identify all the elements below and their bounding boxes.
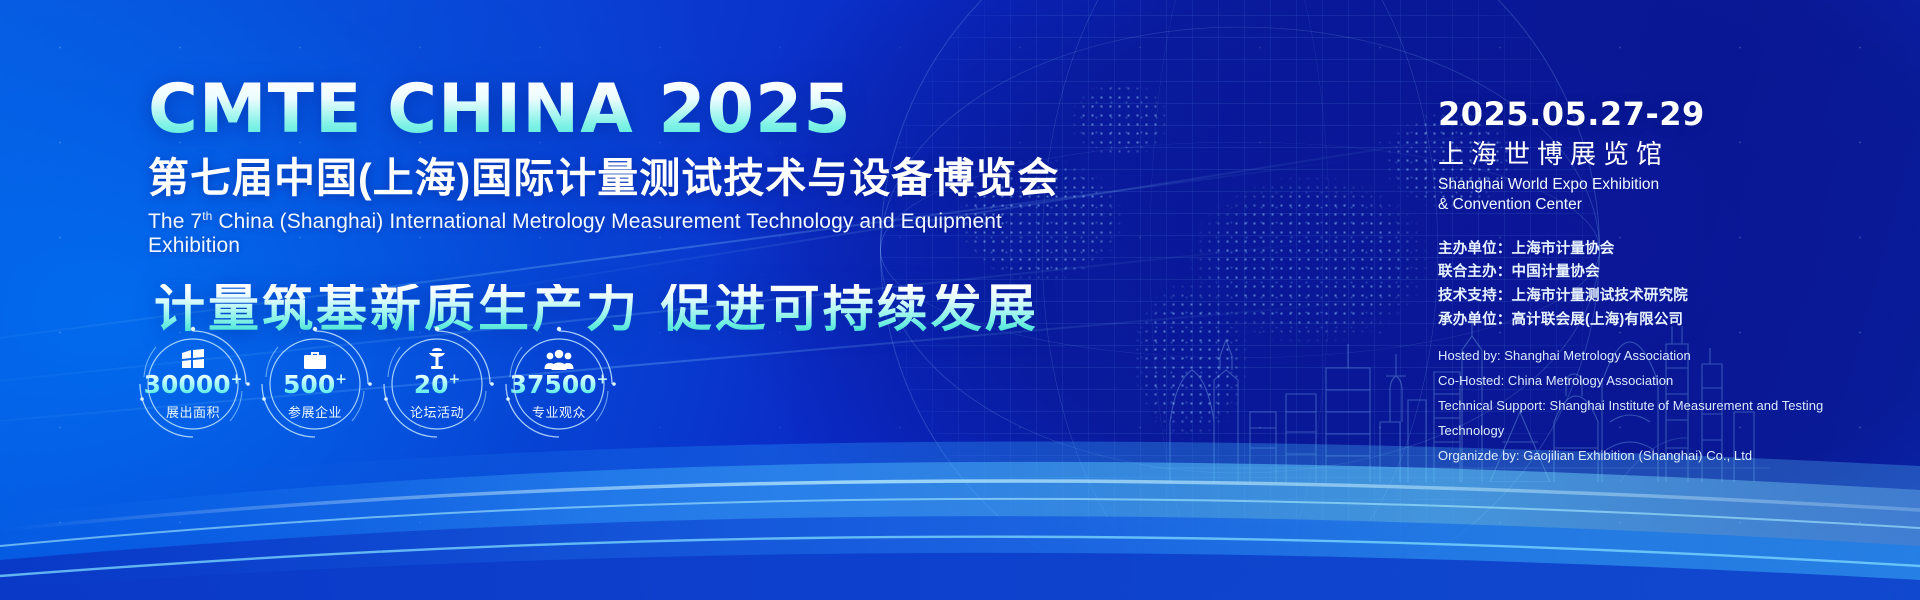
stat-label: 论坛活动 xyxy=(410,402,464,421)
stat-badge-exhibition-area: 30000+ 展出面积 xyxy=(145,336,241,432)
stat-badge-visitors: 37500+ 专业观众 xyxy=(511,336,607,432)
globe-ring-meridian-c xyxy=(1150,0,1330,600)
headline-block: CMTE CHINA 2025 第七届中国(上海)国际计量测试技术与设备博览会 … xyxy=(148,76,1098,335)
stat-badge-exhibitors: 500+ 参展企业 xyxy=(267,336,363,432)
venue-en-line-2: & Convention Center xyxy=(1438,195,1878,215)
stat-label: 展出面积 xyxy=(166,402,220,421)
event-title: CMTE CHINA 2025 xyxy=(148,76,1098,144)
visitors-icon xyxy=(544,347,574,371)
organizer-en-support: Technical Support: Shanghai Institute of… xyxy=(1438,394,1878,444)
stat-value: 37500+ xyxy=(510,372,609,397)
stat-label: 专业观众 xyxy=(532,402,586,421)
briefcase-icon xyxy=(303,347,327,371)
venue-name-cn: 上海世博展览馆 xyxy=(1438,141,1878,167)
stat-badge-forums: 20+ 论坛活动 xyxy=(389,336,485,432)
organizer-en-host: Hosted by: Shanghai Metrology Associatio… xyxy=(1438,344,1878,369)
stat-value: 20+ xyxy=(414,372,461,397)
event-info-panel: 2025.05.27-29 上海世博展览馆 Shanghai World Exp… xyxy=(1438,98,1878,469)
organizer-cn-organizer: 承办单位：高计联会展(上海)有限公司 xyxy=(1438,309,1878,333)
exhibition-area-icon xyxy=(180,347,206,371)
venue-en-line-1: Shanghai World Expo Exhibition xyxy=(1438,175,1878,195)
exhibition-banner: CMTE CHINA 2025 第七届中国(上海)国际计量测试技术与设备博览会 … xyxy=(0,0,1920,600)
venue-name-en: Shanghai World Expo Exhibition & Convent… xyxy=(1438,175,1878,215)
organizer-en-organizer: Organizde by: Gaojilian Exhibition (Shan… xyxy=(1438,444,1878,469)
subtitle-en-prefix: The 7 xyxy=(148,210,202,233)
event-date: 2025.05.27-29 xyxy=(1438,98,1878,130)
globe-ring-meridian-b xyxy=(1042,0,1438,600)
subtitle-en-ordinal: th xyxy=(202,209,212,223)
subtitle-en-suffix: China (Shanghai) International Metrology… xyxy=(148,210,1002,257)
event-subtitle-cn: 第七届中国(上海)国际计量测试技术与设备博览会 xyxy=(148,156,1098,200)
event-subtitle-en: The 7th China (Shanghai) International M… xyxy=(148,209,1098,258)
podium-icon xyxy=(425,347,449,371)
stat-value: 30000+ xyxy=(144,372,243,397)
event-slogan: 计量筑基新质生产力 促进可持续发展 xyxy=(154,284,1098,335)
stat-label: 参展企业 xyxy=(288,402,342,421)
organizers-cn-list: 主办单位：上海市计量协会 联合主办：中国计量协会 技术支持：上海市计量测试技术研… xyxy=(1438,238,1878,333)
organizers-en-list: Hosted by: Shanghai Metrology Associatio… xyxy=(1438,344,1878,469)
organizer-cn-support: 技术支持：上海市计量测试技术研究院 xyxy=(1438,285,1878,309)
organizer-cn-cohost: 联合主办：中国计量协会 xyxy=(1438,261,1878,285)
statistics-row: 30000+ 展出面积 xyxy=(145,336,607,432)
stat-value: 500+ xyxy=(283,372,347,397)
organizer-en-cohost: Co-Hosted: China Metrology Association xyxy=(1438,369,1878,394)
organizer-cn-host: 主办单位：上海市计量协会 xyxy=(1438,238,1878,262)
